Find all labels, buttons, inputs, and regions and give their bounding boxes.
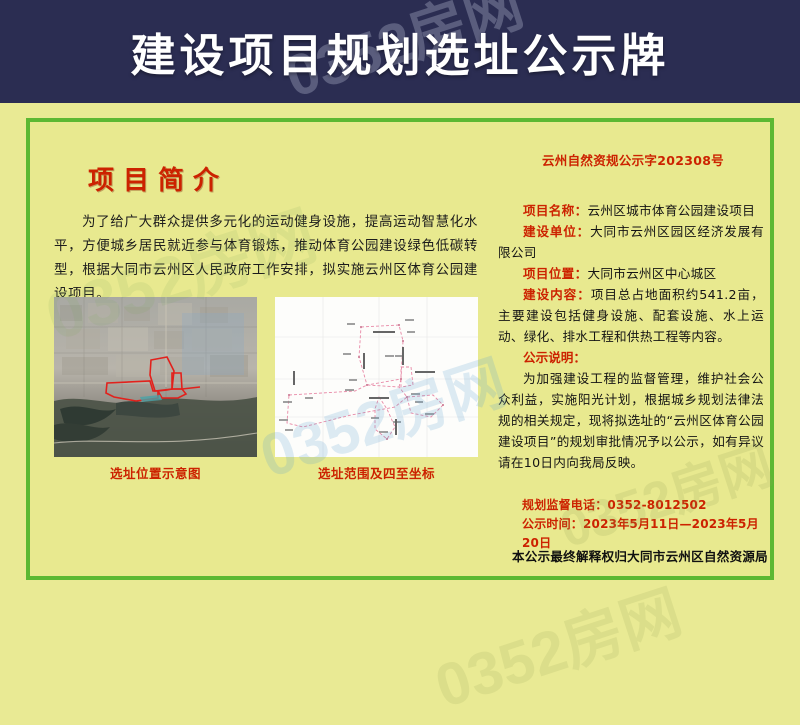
satellite-map-svg — [54, 297, 257, 457]
field-label: 建设单位： — [523, 224, 590, 239]
page-title: 建设项目规划选址公示牌 — [0, 0, 800, 103]
notice-paragraph: 为加强建设工程的监督管理，维护社会公众利益，实施阳光计划，根据城乡规划法律法规的… — [498, 368, 764, 473]
field-label: 项目位置： — [523, 266, 587, 281]
notice-heading: 公示说明： — [498, 347, 764, 368]
figure-caption-2: 选址范围及四至坐标 — [275, 463, 478, 482]
contact-block: 规划监督电话：0352-8012502 公示时间：2023年5月11日—2023… — [522, 496, 770, 553]
board-frame: 项目简介 为了给广大群众提供多元化的运动健身设施，提高运动智慧化水平，方便城乡居… — [26, 118, 774, 580]
footnote-interpretation: 本公示最终解释权归大同市云州区自然资源局 — [496, 546, 770, 565]
satellite-map-image — [54, 297, 257, 457]
field-construction-unit: 建设单位：大同市云州区园区经济发展有限公司 — [498, 221, 764, 263]
boundary-map-image — [275, 297, 478, 457]
header-bar: 0352房网 建设项目规划选址公示牌 — [0, 0, 800, 103]
figure-caption-1: 选址位置示意图 — [54, 463, 257, 482]
field-value: 云州区城市体育公园建设项目 — [587, 203, 755, 218]
field-construction-content: 建设内容：项目总占地面积约541.2亩，主要建设包括健身设施、配套设施、水上运动… — [498, 284, 764, 347]
left-column: 项目简介 为了给广大群众提供多元化的运动健身设施，提高运动智慧化水平，方便城乡居… — [30, 122, 496, 576]
supervision-phone: 规划监督电话：0352-8012502 — [522, 496, 770, 515]
content-columns: 项目简介 为了给广大群众提供多元化的运动健身设施，提高运动智慧化水平，方便城乡居… — [30, 122, 770, 576]
project-fields: 项目名称：云州区城市体育公园建设项目 建设单位：大同市云州区园区经济发展有限公司… — [498, 200, 764, 473]
figure-site-location: 选址位置示意图 — [54, 297, 257, 457]
document-number: 云州自然资规公示字202308号 — [496, 150, 770, 169]
field-label: 建设内容： — [523, 287, 591, 302]
watermark-bottom: 0352房网 — [423, 564, 691, 725]
field-project-location: 项目位置：大同市云州区中心城区 — [498, 263, 764, 284]
brief-paragraph: 为了给广大群众提供多元化的运动健身设施，提高运动智慧化水平，方便城乡居民就近参与… — [54, 210, 478, 306]
boundary-map-svg — [275, 297, 478, 457]
notice-board: 0352房网 项目简介 为了给广大群众提供多元化的运动健身设施，提高运动智慧化水… — [0, 103, 800, 600]
field-value: 大同市云州区中心城区 — [587, 266, 716, 281]
brief-heading: 项目简介 — [88, 160, 228, 197]
field-label: 项目名称： — [523, 203, 587, 218]
right-column: 云州自然资规公示字202308号 项目名称：云州区城市体育公园建设项目 建设单位… — [496, 122, 770, 576]
field-project-name: 项目名称：云州区城市体育公园建设项目 — [498, 200, 764, 221]
figure-site-boundary: 选址范围及四至坐标 — [275, 297, 478, 457]
figure-group: 选址位置示意图 — [54, 297, 478, 487]
